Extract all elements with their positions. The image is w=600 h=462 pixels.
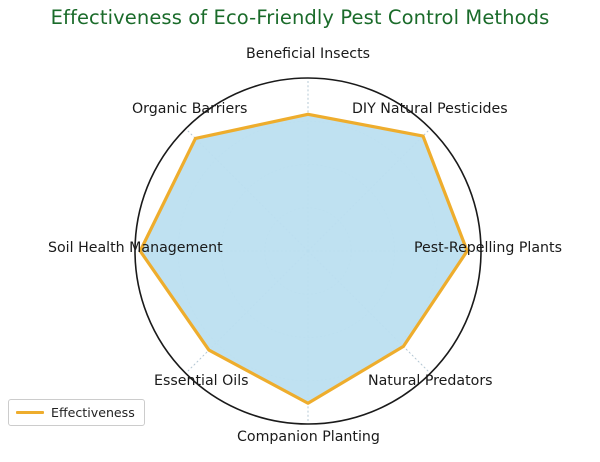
legend-line-swatch-effectiveness — [16, 411, 44, 414]
axis-label-essential-oils: Essential Oils — [154, 374, 249, 388]
axis-label-companion-planting: Companion Planting — [237, 430, 380, 444]
axis-label-beneficial-insects: Beneficial Insects — [246, 47, 370, 61]
chart-legend: Effectiveness — [8, 399, 145, 426]
axis-label-diy-natural-pesticides: DIY Natural Pesticides — [352, 102, 508, 116]
series-effectiveness — [140, 114, 467, 403]
axis-label-pest-repelling-plants: Pest-Repelling Plants — [414, 241, 562, 255]
legend-label-effectiveness: Effectiveness — [51, 405, 135, 420]
axis-label-natural-predators: Natural Predators — [368, 374, 493, 388]
radar-plot-area — [0, 0, 600, 462]
axis-label-organic-barriers: Organic Barriers — [132, 102, 247, 116]
radar-chart-figure: Effectiveness of Eco-Friendly Pest Contr… — [0, 0, 600, 462]
axis-label-soil-health-management: Soil Health Management — [48, 241, 223, 255]
